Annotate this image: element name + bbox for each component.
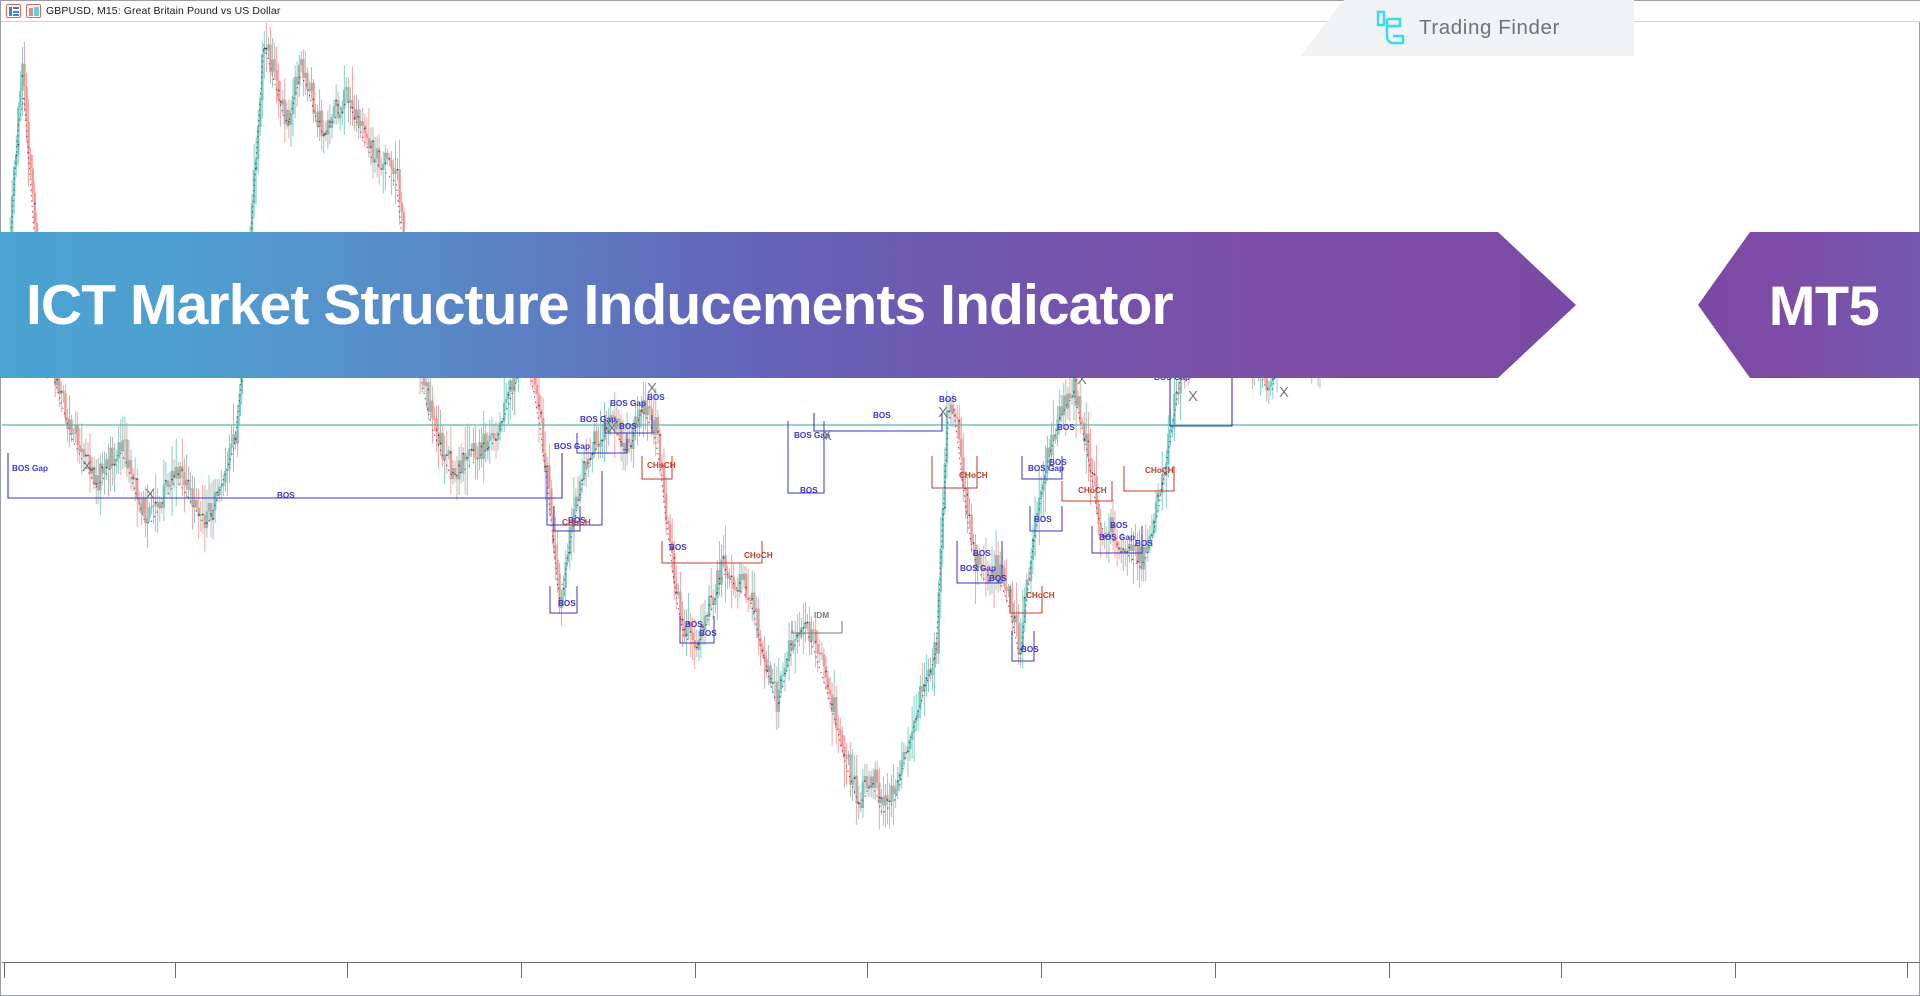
axis-tick xyxy=(1735,963,1736,978)
trading-finder-logo-plate: Trading Finder xyxy=(1300,0,1634,56)
annotation-bos: BOS xyxy=(685,620,703,629)
annotation-sweep: X xyxy=(1279,384,1289,401)
annotation-bos: BOS xyxy=(277,491,295,500)
annotation-bos: BOS xyxy=(873,411,891,420)
annotation-sweep: X xyxy=(822,427,832,444)
candles-group xyxy=(5,23,1338,830)
screenshot-root: GBPUSD, M15: Great Britain Pound vs US D… xyxy=(0,0,1920,996)
fractal-dots-group xyxy=(15,48,1337,805)
annotation-sweep: X xyxy=(647,380,657,397)
annotation-bos: BOS xyxy=(989,574,1007,583)
annotation-bos: BOS xyxy=(1021,645,1039,654)
annotation-bos: BOS xyxy=(619,422,637,431)
axis-tick xyxy=(4,963,5,978)
axis-tick xyxy=(1389,963,1390,978)
annotation-sweep: X xyxy=(607,420,617,437)
axis-tick xyxy=(1215,963,1216,978)
annotation-choch: CHoCH xyxy=(744,551,773,560)
annotation-bos: BOS xyxy=(1057,423,1075,432)
annotation-bos: BOS xyxy=(939,395,957,404)
annotation-idm: IDM xyxy=(814,611,829,620)
annotation-bos: BOS xyxy=(1110,521,1128,530)
time-axis xyxy=(2,962,1920,963)
platform-badge-label: MT5 xyxy=(1739,273,1880,338)
annotation-choch: CHoCH xyxy=(562,518,591,527)
axis-tick xyxy=(175,963,176,978)
annotation-bos: BOS xyxy=(1135,539,1153,548)
annotation-choch: CHoCH xyxy=(1026,591,1055,600)
swing-trace-group xyxy=(6,44,1338,814)
axis-tick xyxy=(347,963,348,978)
annotation-bos: BOS xyxy=(699,629,717,638)
annotation-sweep: X xyxy=(145,486,155,503)
annotation-bos: BOS Gap xyxy=(610,399,646,408)
axis-tick xyxy=(1907,963,1908,978)
trading-finder-mark-icon xyxy=(1374,10,1408,46)
chart-plot-area[interactable]: BOS GapXXBOSBOS GapBOSCHoCHBOSBOS GapBOS… xyxy=(2,23,1918,994)
annotation-bos: BOS Gap xyxy=(1099,533,1135,542)
annotation-bos: BOS xyxy=(1034,515,1052,524)
annotation-choch: CHoCH xyxy=(1145,466,1174,475)
mt5-chart-window: GBPUSD, M15: Great Britain Pound vs US D… xyxy=(0,0,1920,996)
annotation-bos: BOS Gap xyxy=(554,442,590,451)
annotation-bos: BOS Gap xyxy=(12,464,48,473)
annotation-bos: BOS Gap xyxy=(960,564,996,573)
axis-tick xyxy=(1561,963,1562,978)
annotation-bos: BOS xyxy=(1049,458,1067,467)
chart-symbol-title: GBPUSD, M15: Great Britain Pound vs US D… xyxy=(46,5,280,17)
indicator-title-text: ICT Market Structure Inducements Indicat… xyxy=(0,277,1173,334)
chart-window-icon[interactable] xyxy=(26,4,41,18)
axis-tick xyxy=(1041,963,1042,978)
annotation-bos: BOS xyxy=(800,486,818,495)
annotation-bos: BOS xyxy=(973,549,991,558)
annotation-choch: CHoCH xyxy=(959,471,988,480)
annotation-sweep: X xyxy=(82,458,92,475)
annotation-bos: BOS xyxy=(669,543,687,552)
annotation-sweep: X xyxy=(938,404,948,421)
annotation-choch: CHoCH xyxy=(647,461,676,470)
data-window-icon[interactable] xyxy=(6,4,21,18)
axis-tick xyxy=(695,963,696,978)
trading-finder-wordmark: Trading Finder xyxy=(1419,16,1560,40)
annotation-sweep: X xyxy=(1188,388,1198,405)
price-chart-canvas: BOS GapXXBOSBOS GapBOSCHoCHBOSBOS GapBOS… xyxy=(2,23,1918,994)
axis-tick xyxy=(521,963,522,978)
axis-tick xyxy=(867,963,868,978)
annotation-bos: BOS xyxy=(558,599,576,608)
annotation-choch: CHoCH xyxy=(1078,486,1107,495)
indicator-title-banner: ICT Market Structure Inducements Indicat… xyxy=(0,232,1576,378)
